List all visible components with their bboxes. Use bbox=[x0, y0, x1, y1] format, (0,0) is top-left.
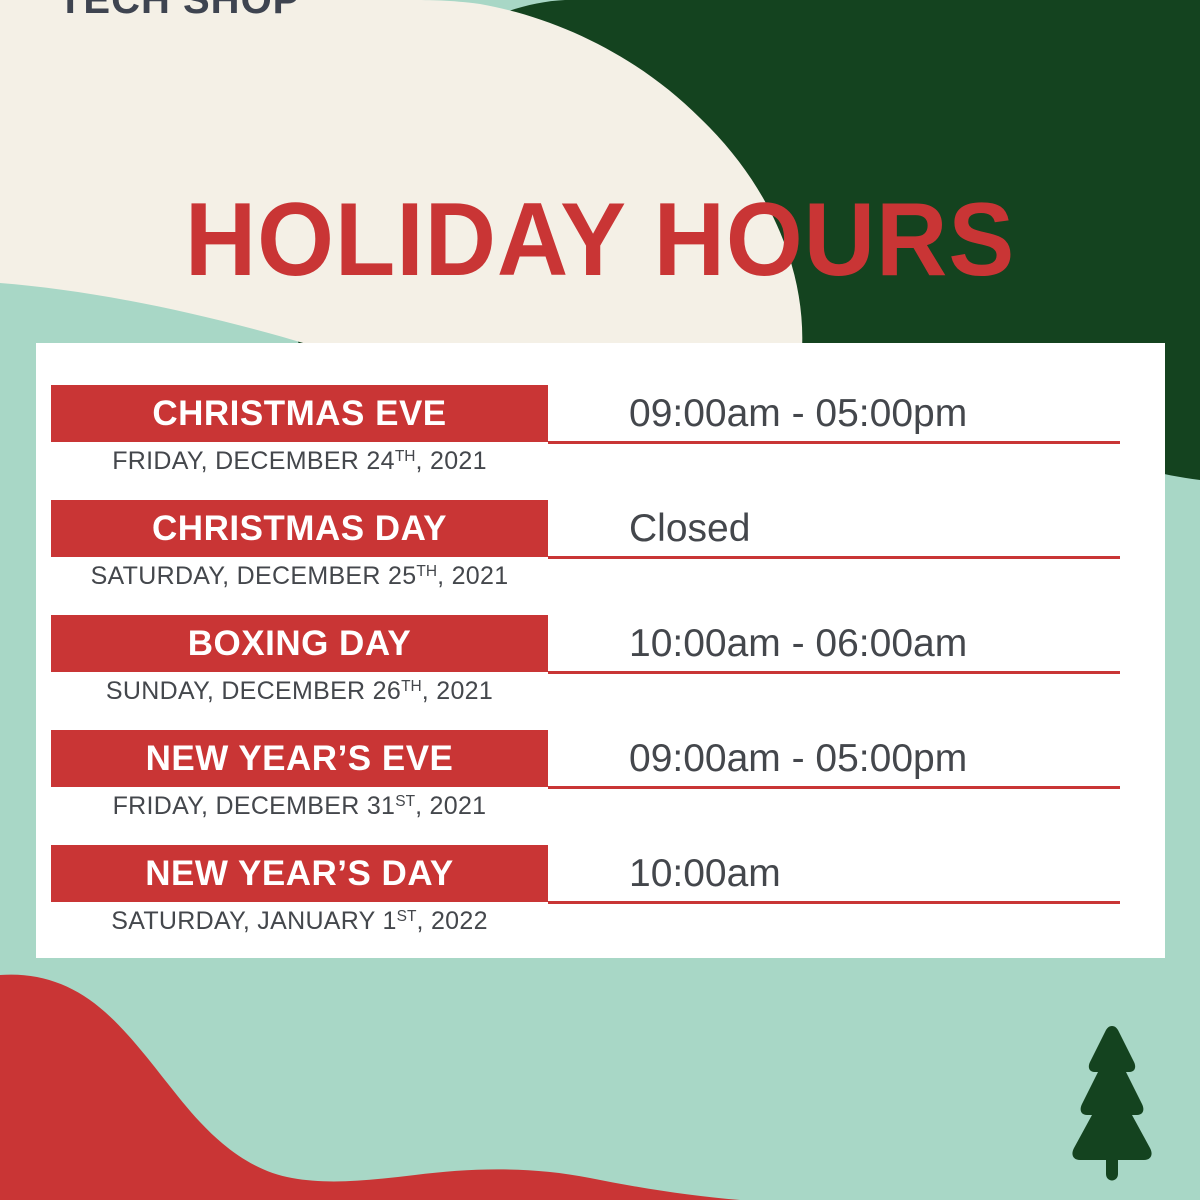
hours-underline: 10:00am - 06:00am bbox=[548, 615, 1120, 674]
date-ordinal: ST bbox=[397, 908, 417, 925]
hours-underline: Closed bbox=[548, 500, 1120, 559]
schedule-row: NEW YEAR’S DAY10:00amSATURDAY, JANUARY 1… bbox=[36, 803, 1165, 923]
holiday-name-label: BOXING DAY bbox=[188, 626, 411, 661]
hours-underline: 09:00am - 05:00pm bbox=[548, 385, 1120, 444]
hours-label: 10:00am - 06:00am bbox=[548, 624, 967, 663]
cutoff-brand-text: TECH SHOP bbox=[58, 0, 300, 23]
hours-underline: 10:00am bbox=[548, 845, 1120, 904]
holiday-name-bar: NEW YEAR’S EVE bbox=[51, 730, 548, 787]
schedule-row: BOXING DAY10:00am - 06:00amSUNDAY, DECEM… bbox=[36, 573, 1165, 688]
schedule-rows: CHRISTMAS EVE09:00am - 05:00pmFRIDAY, DE… bbox=[36, 343, 1165, 923]
hours-label: 09:00am - 05:00pm bbox=[548, 739, 967, 778]
holiday-name-label: NEW YEAR’S DAY bbox=[145, 856, 453, 891]
hours-label: 10:00am bbox=[548, 854, 781, 893]
date-prefix: SATURDAY, JANUARY 1 bbox=[111, 907, 396, 935]
schedule-row: CHRISTMAS DAYClosedSATURDAY, DECEMBER 25… bbox=[36, 458, 1165, 573]
christmas-tree-icon bbox=[1060, 1022, 1164, 1182]
holiday-name-bar: CHRISTMAS EVE bbox=[51, 385, 548, 442]
schedule-row: NEW YEAR’S EVE09:00am - 05:00pmFRIDAY, D… bbox=[36, 688, 1165, 803]
hours-label: 09:00am - 05:00pm bbox=[548, 394, 967, 433]
holiday-name-label: CHRISTMAS EVE bbox=[152, 396, 446, 431]
holiday-date-label: SATURDAY, JANUARY 1ST, 2022 bbox=[51, 907, 548, 936]
hours-label: Closed bbox=[548, 509, 750, 548]
holiday-name-label: NEW YEAR’S EVE bbox=[146, 741, 454, 776]
holiday-name-bar: CHRISTMAS DAY bbox=[51, 500, 548, 557]
schedule-card: CHRISTMAS EVE09:00am - 05:00pmFRIDAY, DE… bbox=[36, 343, 1165, 958]
hours-underline: 09:00am - 05:00pm bbox=[548, 730, 1120, 789]
schedule-row: CHRISTMAS EVE09:00am - 05:00pmFRIDAY, DE… bbox=[36, 343, 1165, 458]
holiday-hours-poster: TECH SHOP HOLIDAY HOURS CHRISTMAS EVE09:… bbox=[0, 0, 1200, 1200]
holiday-name-bar: BOXING DAY bbox=[51, 615, 548, 672]
date-suffix: , 2022 bbox=[416, 907, 487, 935]
holiday-name-bar: NEW YEAR’S DAY bbox=[51, 845, 548, 902]
page-title: HOLIDAY HOURS bbox=[30, 186, 1170, 294]
holiday-name-label: CHRISTMAS DAY bbox=[152, 511, 447, 546]
